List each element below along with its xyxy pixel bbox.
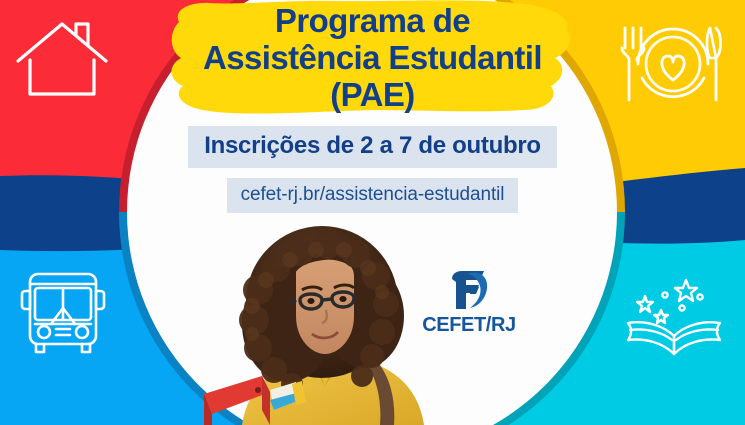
- url-banner[interactable]: cefet-rj.br/assistencia-estudantil: [227, 178, 519, 213]
- page-title: Programa de Assistência Estudantil (PAE): [163, 2, 583, 113]
- cefet-logo: CEFET/RJ: [414, 268, 524, 337]
- cefet-monogram-icon: [446, 268, 492, 312]
- poster-content: Programa de Assistência Estudantil (PAE)…: [0, 0, 745, 425]
- poster-canvas: Programa de Assistência Estudantil (PAE)…: [0, 0, 745, 425]
- subtitle-banner: Inscrições de 2 a 7 de outubro: [188, 126, 556, 168]
- cefet-logo-text: CEFET/RJ: [414, 314, 524, 337]
- title-brush-group: Programa de Assistência Estudantil (PAE): [163, 0, 583, 122]
